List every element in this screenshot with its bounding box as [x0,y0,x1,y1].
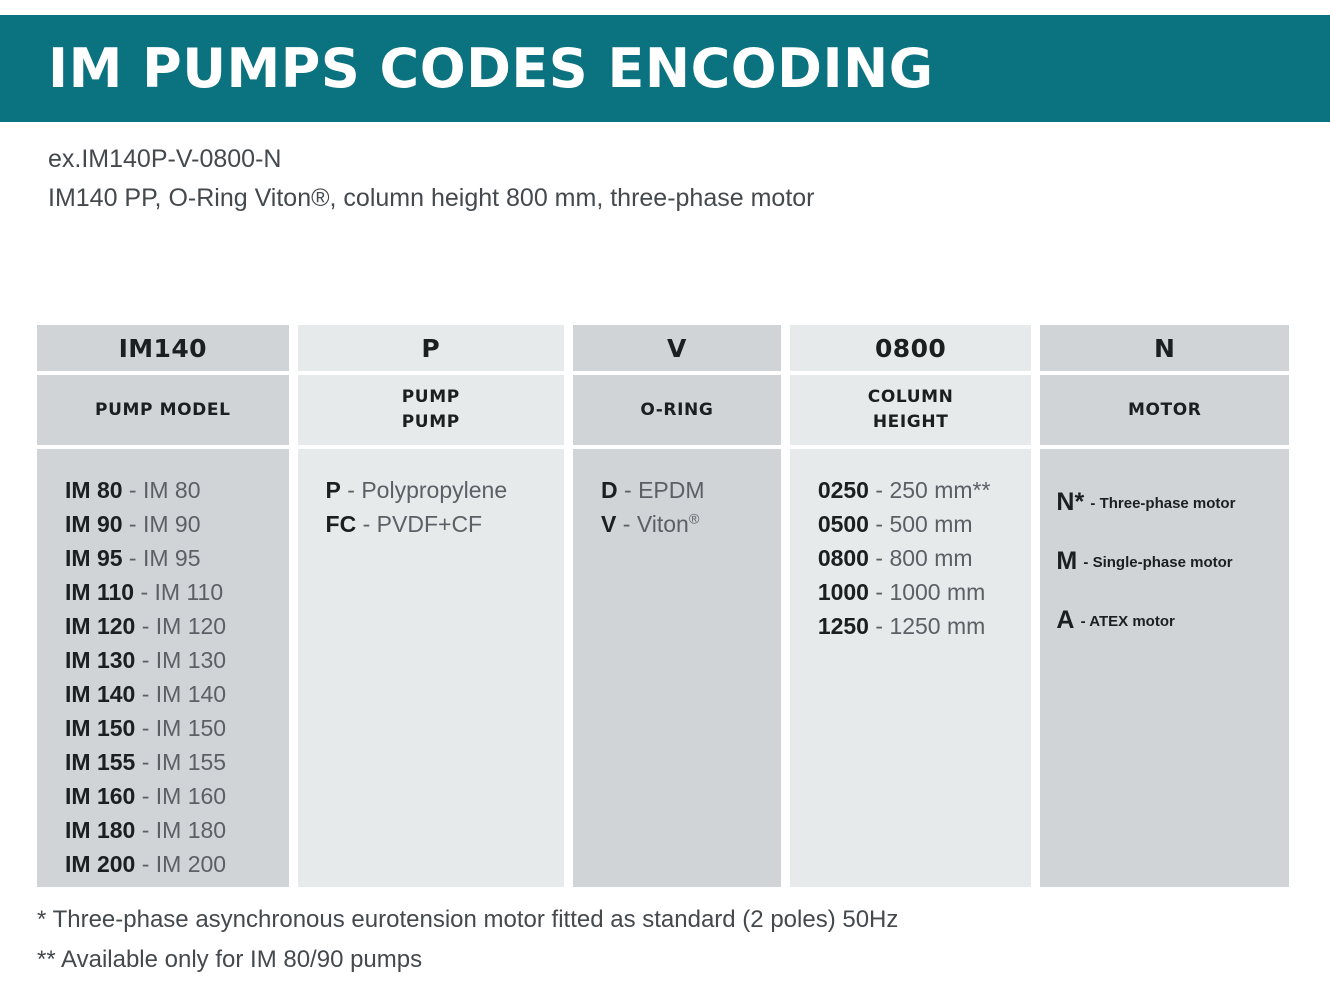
column-header-line2: PUMP [402,410,460,435]
column-code-pump-model: IM140 [37,325,289,371]
list-item: IM 160 - IM 160 [65,779,289,813]
list-item: 0250 - 250 mm** [818,473,1032,507]
list-item: IM 180 - IM 180 [65,813,289,847]
list-item: V - Viton® [601,507,781,541]
list-item: IM 95 - IM 95 [65,541,289,575]
list-item: M - Single-phase motor [1056,532,1289,591]
table-column-motor: N MOTOR N* - Three-phase motor M - Singl… [1040,325,1289,887]
page-header-band: IM PUMPS CODES ENCODING [0,15,1330,122]
footnotes: * Three-phase asynchronous eurotension m… [37,900,1287,979]
list-item: IM 130 - IM 130 [65,643,289,677]
list-item: 0500 - 500 mm [818,507,1032,541]
column-code-motor: N [1040,325,1289,371]
column-body-column-height: 0250 - 250 mm** 0500 - 500 mm 0800 - 800… [790,449,1032,887]
column-header-line1: PUMP [402,385,460,410]
example-block: ex.IM140P-V-0800-N IM140 PP, O-Ring Vito… [48,140,1248,218]
list-item: IM 150 - IM 150 [65,711,289,745]
example-description-line: IM140 PP, O-Ring Viton®, column height 8… [48,179,1248,218]
column-code-column-height: 0800 [790,325,1032,371]
list-item: IM 120 - IM 120 [65,609,289,643]
column-header-pump-material: PUMP PUMP [298,375,564,445]
column-header-column-height: COLUMN HEIGHT [790,375,1032,445]
list-item: IM 200 - IM 200 [65,847,289,881]
column-header-o-ring: O-RING [573,375,781,445]
column-header-line1: O-RING [640,398,713,423]
code-encoding-table: IM140 PUMP MODEL IM 80 - IM 80 IM 90 - I… [37,325,1289,887]
list-item: IM 155 - IM 155 [65,745,289,779]
column-header-line1: COLUMN [868,385,954,410]
column-body-o-ring: D - EPDM V - Viton® [573,449,781,887]
column-header-line1: PUMP MODEL [95,398,230,423]
column-body-pump-material: P - Polypropylene FC - PVDF+CF [298,449,564,887]
list-item: N* - Three-phase motor [1056,473,1289,532]
list-item: 1250 - 1250 mm [818,609,1032,643]
example-code-line: ex.IM140P-V-0800-N [48,140,1248,179]
footnote-single-asterisk: * Three-phase asynchronous eurotension m… [37,900,1287,940]
column-header-line1: MOTOR [1128,398,1202,423]
column-body-pump-model: IM 80 - IM 80 IM 90 - IM 90 IM 95 - IM 9… [37,449,289,887]
column-header-motor: MOTOR [1040,375,1289,445]
list-item: D - EPDM [601,473,781,507]
list-item: IM 80 - IM 80 [65,473,289,507]
table-column-o-ring: V O-RING D - EPDM V - Viton® [573,325,781,887]
footnote-double-asterisk: ** Available only for IM 80/90 pumps [37,940,1287,980]
list-item: 0800 - 800 mm [818,541,1032,575]
list-item: IM 110 - IM 110 [65,575,289,609]
list-item: IM 90 - IM 90 [65,507,289,541]
table-column-pump-material: P PUMP PUMP P - Polypropylene FC - PVDF+… [298,325,564,887]
page-title: IM PUMPS CODES ENCODING [48,42,934,96]
list-item: P - Polypropylene [326,473,564,507]
column-code-o-ring: V [573,325,781,371]
table-column-pump-model: IM140 PUMP MODEL IM 80 - IM 80 IM 90 - I… [37,325,289,887]
table-column-column-height: 0800 COLUMN HEIGHT 0250 - 250 mm** 0500 … [790,325,1032,887]
list-item: FC - PVDF+CF [326,507,564,541]
column-code-pump-material: P [298,325,564,371]
list-item: 1000 - 1000 mm [818,575,1032,609]
column-body-motor: N* - Three-phase motor M - Single-phase … [1040,449,1289,887]
list-item: IM 140 - IM 140 [65,677,289,711]
list-item: A - ATEX motor [1056,591,1289,650]
column-header-line2: HEIGHT [873,410,949,435]
column-header-pump-model: PUMP MODEL [37,375,289,445]
